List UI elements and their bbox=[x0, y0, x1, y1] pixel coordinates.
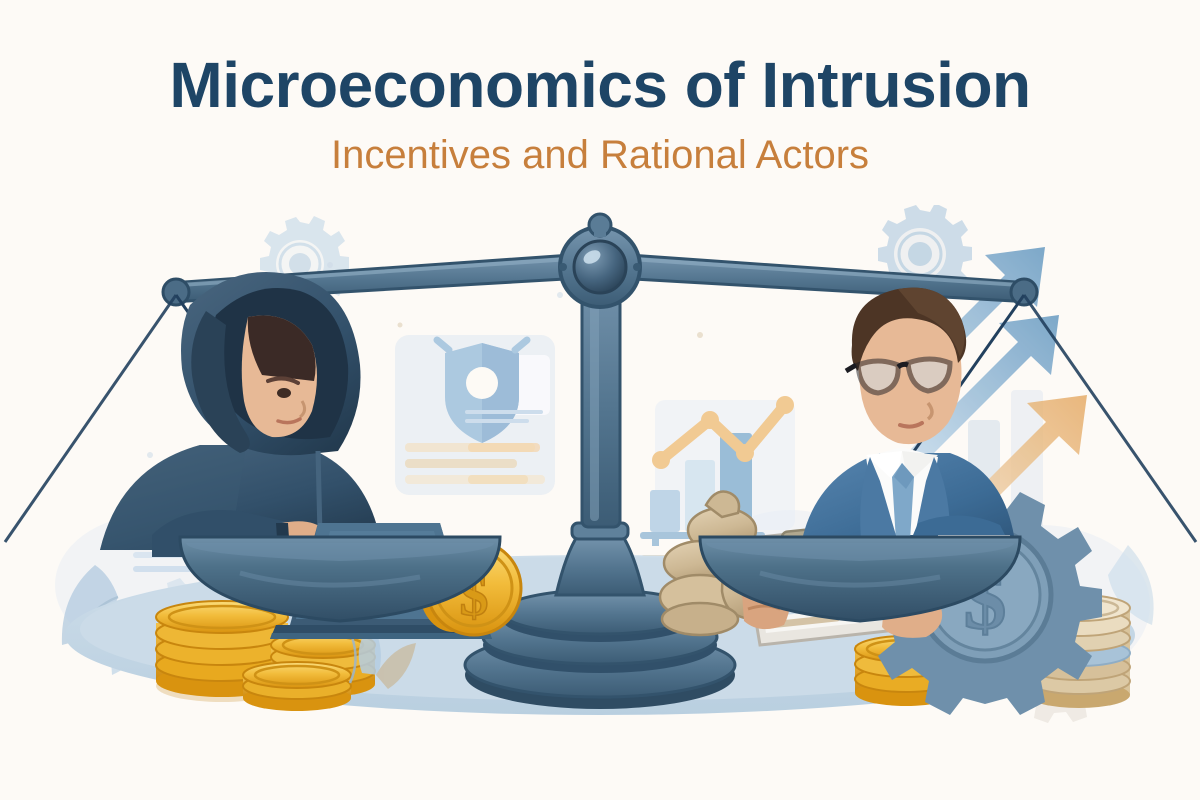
illustration-stage: $ bbox=[0, 205, 1200, 725]
beam-end-left bbox=[163, 279, 189, 305]
page-subtitle: Incentives and Rational Actors bbox=[0, 133, 1200, 177]
page-title: Microeconomics of Intrusion bbox=[0, 52, 1200, 119]
hooded-hacker-figure bbox=[100, 272, 382, 557]
balance-scale-illustration: $ bbox=[0, 205, 1200, 725]
header: Microeconomics of Intrusion Incentives a… bbox=[0, 0, 1200, 177]
shield-document-card bbox=[395, 335, 555, 495]
slide-root: Microeconomics of Intrusion Incentives a… bbox=[0, 0, 1200, 800]
beam-end-right bbox=[1011, 279, 1037, 305]
